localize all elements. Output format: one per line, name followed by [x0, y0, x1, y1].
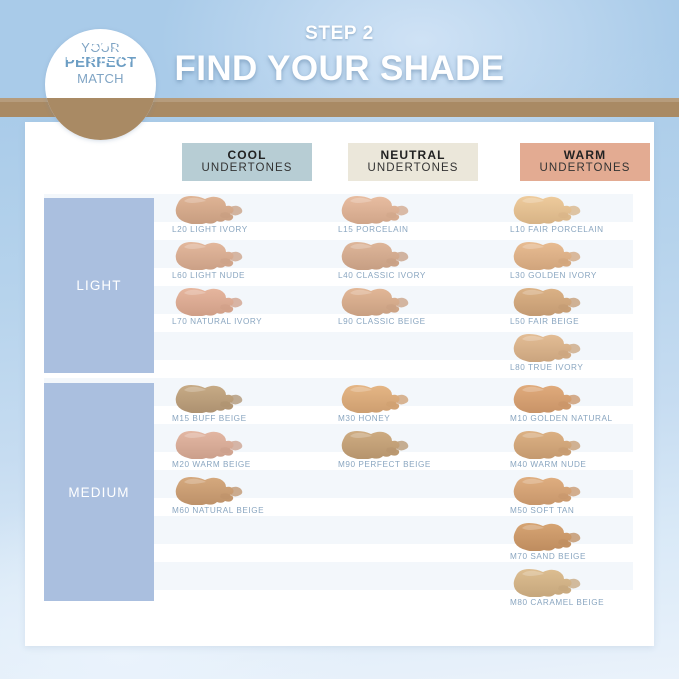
- shade-label: M10 GOLDEN NATURAL: [510, 414, 660, 423]
- shade-grid: L20 LIGHT IVORYL60 LIGHT NUDEL70 NATURAL…: [172, 194, 642, 606]
- shade-swatch-icon: [172, 475, 252, 505]
- shade-cell[interactable]: L15 PORCELAIN: [338, 194, 488, 234]
- shade-cell[interactable]: M80 CARAMEL BEIGE: [510, 567, 660, 607]
- tone-label-light: LIGHT: [76, 278, 121, 293]
- shade-cell[interactable]: L60 LIGHT NUDE: [172, 240, 322, 280]
- shade-cell[interactable]: M60 NATURAL BEIGE: [172, 475, 322, 515]
- shade-cell[interactable]: L50 FAIR BEIGE: [510, 286, 660, 326]
- undertone-sub: UNDERTONES: [367, 162, 458, 175]
- shade-swatch-icon: [510, 240, 590, 270]
- shade-swatch-icon: [510, 383, 590, 413]
- shade-finder-page: STEP 2 FIND YOUR SHADE YOUR PERFECT MATC…: [0, 0, 679, 679]
- shade-label: L50 FAIR BEIGE: [510, 317, 660, 326]
- badge-easy-steps: EASY STEPS: [88, 35, 135, 66]
- shade-swatch-icon: [510, 194, 590, 224]
- undertone-name: NEUTRAL: [380, 149, 445, 162]
- shade-swatch-icon: [338, 383, 418, 413]
- shade-swatch-icon: [172, 286, 252, 316]
- shade-swatch-icon: [338, 286, 418, 316]
- shade-label: L60 LIGHT NUDE: [172, 271, 322, 280]
- tone-block-medium: MEDIUM: [44, 383, 154, 601]
- shade-cell[interactable]: L40 CLASSIC IVORY: [338, 240, 488, 280]
- shade-cell[interactable]: L80 TRUE IVORY: [510, 332, 660, 372]
- tone-label-medium: MEDIUM: [68, 485, 129, 500]
- shade-cell[interactable]: M40 WARM NUDE: [510, 429, 660, 469]
- shade-label: L70 NATURAL IVORY: [172, 317, 322, 326]
- shade-label: M30 HONEY: [338, 414, 488, 423]
- shade-label: L80 TRUE IVORY: [510, 363, 660, 372]
- shade-swatch-icon: [510, 475, 590, 505]
- badge-bottom-text: 2 EASY STEPS: [45, 29, 156, 71]
- perfect-match-badge: YOUR PERFECT MATCH 2 EASY STEPS: [45, 29, 156, 140]
- undertone-name: COOL: [227, 149, 266, 162]
- shade-cell[interactable]: M30 HONEY: [338, 383, 488, 423]
- undertone-sub: UNDERTONES: [201, 162, 292, 175]
- shade-cell[interactable]: M90 PERFECT BEIGE: [338, 429, 488, 469]
- shade-label: L10 FAIR PORCELAIN: [510, 225, 660, 234]
- shade-cell[interactable]: L10 FAIR PORCELAIN: [510, 194, 660, 234]
- shade-swatch-icon: [510, 567, 590, 597]
- shade-cell[interactable]: L30 GOLDEN IVORY: [510, 240, 660, 280]
- shade-label: L40 CLASSIC IVORY: [338, 271, 488, 280]
- undertone-name: WARM: [564, 149, 606, 162]
- shade-cell[interactable]: L20 LIGHT IVORY: [172, 194, 322, 234]
- shade-label: M40 WARM NUDE: [510, 460, 660, 469]
- shade-swatch-icon: [172, 383, 252, 413]
- badge-number: 2: [66, 33, 84, 65]
- shade-label: M60 NATURAL BEIGE: [172, 506, 322, 515]
- shade-label: M70 SAND BEIGE: [510, 552, 660, 561]
- shade-swatch-icon: [172, 194, 252, 224]
- undertone-header-cool: COOLUNDERTONES: [182, 143, 312, 181]
- tone-block-light: LIGHT: [44, 198, 154, 373]
- badge-easy: EASY: [88, 35, 135, 52]
- shade-cell[interactable]: M15 BUFF BEIGE: [172, 383, 322, 423]
- shade-cell[interactable]: M50 SOFT TAN: [510, 475, 660, 515]
- shade-label: M20 WARM BEIGE: [172, 460, 322, 469]
- shade-swatch-icon: [338, 240, 418, 270]
- shade-label: L20 LIGHT IVORY: [172, 225, 322, 234]
- shade-swatch-icon: [338, 429, 418, 459]
- shade-swatch-icon: [510, 332, 590, 362]
- shade-swatch-icon: [510, 429, 590, 459]
- shade-swatch-icon: [172, 240, 252, 270]
- shade-cell[interactable]: M20 WARM BEIGE: [172, 429, 322, 469]
- shade-label: M90 PERFECT BEIGE: [338, 460, 488, 469]
- badge-steps: STEPS: [88, 52, 135, 65]
- shade-label: M50 SOFT TAN: [510, 506, 660, 515]
- shade-label: L15 PORCELAIN: [338, 225, 488, 234]
- shade-label: L90 CLASSIC BEIGE: [338, 317, 488, 326]
- undertone-header-row: COOLUNDERTONESNEUTRALUNDERTONESWARMUNDER…: [182, 143, 637, 181]
- shade-cell[interactable]: M70 SAND BEIGE: [510, 521, 660, 561]
- undertone-header-neutral: NEUTRALUNDERTONES: [348, 143, 478, 181]
- shade-swatch-icon: [338, 194, 418, 224]
- shade-label: M15 BUFF BEIGE: [172, 414, 322, 423]
- shade-swatch-icon: [172, 429, 252, 459]
- undertone-sub: UNDERTONES: [539, 162, 630, 175]
- shade-swatch-icon: [510, 286, 590, 316]
- shade-label: M80 CARAMEL BEIGE: [510, 598, 660, 607]
- shade-cell[interactable]: L70 NATURAL IVORY: [172, 286, 322, 326]
- shade-cell[interactable]: M10 GOLDEN NATURAL: [510, 383, 660, 423]
- shade-cell[interactable]: L90 CLASSIC BEIGE: [338, 286, 488, 326]
- shade-label: L30 GOLDEN IVORY: [510, 271, 660, 280]
- shade-swatch-icon: [510, 521, 590, 551]
- badge-bottom-fill: [45, 98, 156, 140]
- undertone-header-warm: WARMUNDERTONES: [520, 143, 650, 181]
- badge-line-match: MATCH: [77, 72, 124, 87]
